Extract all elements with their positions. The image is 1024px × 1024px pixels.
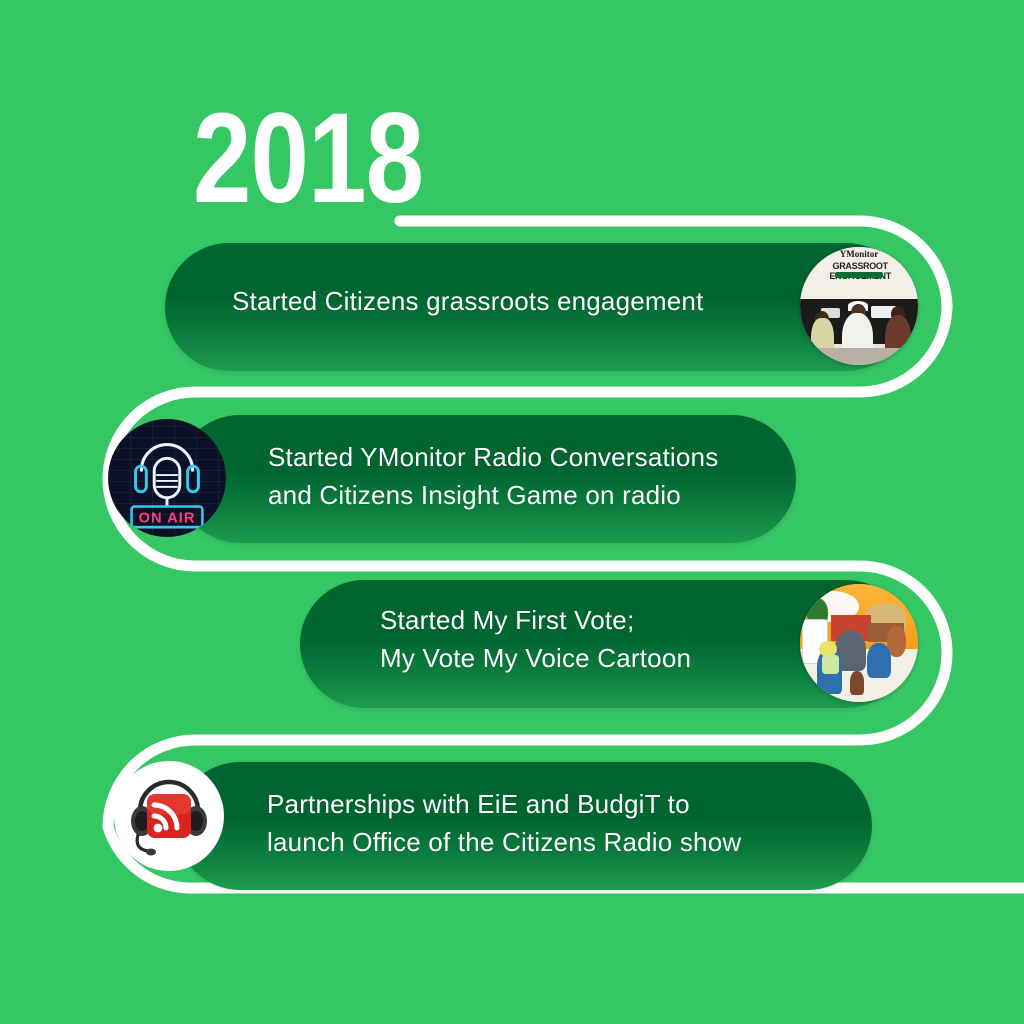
cartoon-child — [850, 671, 864, 695]
on-air-neon-artwork: ON AIR — [108, 419, 226, 537]
svg-text:ON AIR: ON AIR — [139, 510, 196, 526]
timeline-item-radio-conversations[interactable]: Started YMonitor Radio Conversations and… — [0, 0, 118, 118]
photo-banner-title: GRASSROOT ENGAGEMENT — [802, 261, 918, 269]
photo-banner: YMonitor GRASSROOT ENGAGEMENT — [800, 247, 918, 301]
cartoon-figure-blue — [867, 643, 891, 678]
cartoon-vest — [822, 655, 839, 674]
timeline-item-label: Started My First Vote; My Vote My Voice … — [380, 601, 800, 677]
infographic-canvas: 2018 Started Citizens grassroots engagem… — [0, 0, 1024, 1024]
photo-banner-logo: YMonitor — [826, 250, 892, 259]
photo-banner-subtitle-chip — [835, 272, 882, 278]
timeline-item-label: Started Citizens grassroots engagement — [232, 282, 792, 320]
ymonitor-grassroot-engagement-photo: YMonitor GRASSROOT ENGAGEMENT — [800, 247, 918, 365]
year-title: 2018 — [193, 95, 423, 223]
my-vote-my-voice-cartoon-image — [800, 584, 918, 702]
timeline-item-label: Started YMonitor Radio Conversations and… — [268, 438, 788, 514]
podcast-rss-headphones-icon — [114, 761, 224, 871]
timeline-item-label: Partnerships with EiE and BudgiT to laun… — [267, 785, 827, 861]
photo-table — [800, 348, 918, 365]
on-air-neon-icon: ON AIR — [108, 419, 226, 537]
podcast-icon-artwork — [114, 761, 224, 871]
